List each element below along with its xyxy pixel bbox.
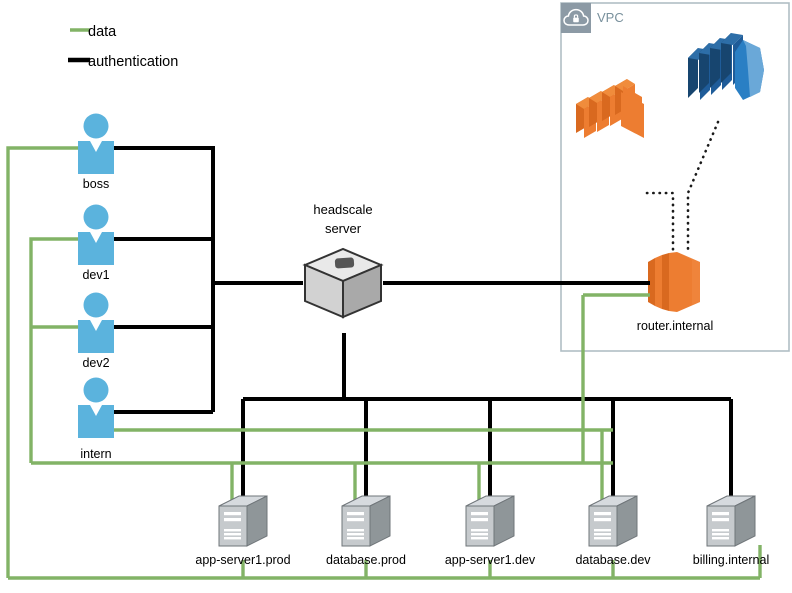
user-label-intern: intern: [80, 447, 111, 461]
network-diagram: VPC router.internal: [0, 0, 792, 593]
data-edge-boss: [8, 148, 78, 578]
user-node-dev2[interactable]: dev2: [78, 293, 114, 371]
data-edge-dev1: [31, 239, 78, 463]
user-node-boss[interactable]: boss: [78, 114, 114, 192]
host-node-database-prod[interactable]: database.prod: [326, 496, 406, 567]
diagram-canvas: VPC router.internal: [0, 0, 792, 593]
aws-router-icon[interactable]: [648, 252, 700, 312]
legend-label-data: data: [88, 24, 117, 40]
host-node-database-dev[interactable]: database.dev: [575, 496, 651, 567]
server-icon: [466, 496, 514, 546]
user-node-dev1[interactable]: dev1: [78, 205, 114, 283]
cube-server-icon: [305, 249, 381, 317]
host-label-database-prod: database.prod: [326, 553, 406, 567]
headscale-label-line2: server: [325, 221, 362, 236]
aws-database-icon[interactable]: [688, 33, 764, 100]
user-icon: [78, 205, 114, 266]
headscale-server-node[interactable]: headscale server: [305, 202, 381, 317]
user-node-intern[interactable]: intern: [78, 378, 114, 462]
host-label-billing-internal: billing.internal: [693, 553, 769, 567]
vpc-internal-links: [647, 122, 718, 253]
auth-edge-boss: [114, 148, 213, 412]
host-label-database-dev: database.dev: [575, 553, 651, 567]
user-label-dev1: dev1: [82, 268, 109, 282]
server-icon: [707, 496, 755, 546]
link-database-to-router: [688, 122, 718, 253]
headscale-label-line1: headscale: [313, 202, 372, 217]
host-node-billing-internal[interactable]: billing.internal: [693, 496, 769, 567]
legend-label-authentication: authentication: [88, 54, 178, 70]
host-label-app-server1-prod: app-server1.prod: [195, 553, 290, 567]
user-icon: [78, 114, 114, 175]
server-icon: [589, 496, 637, 546]
aws-instances-icon[interactable]: [576, 79, 648, 138]
user-icon: [78, 293, 114, 354]
router-label: router.internal: [637, 319, 713, 333]
vpc-label: VPC: [597, 10, 624, 25]
server-icon: [219, 496, 267, 546]
link-compute-to-router: [647, 193, 673, 253]
user-icon: [78, 378, 114, 439]
user-label-boss: boss: [83, 177, 109, 191]
host-node-app-server1-prod[interactable]: app-server1.prod: [195, 496, 290, 567]
server-icon: [342, 496, 390, 546]
host-label-app-server1-dev: app-server1.dev: [445, 553, 536, 567]
host-node-app-server1-dev[interactable]: app-server1.dev: [445, 496, 536, 567]
user-label-dev2: dev2: [82, 356, 109, 370]
legend: data authentication: [68, 24, 178, 70]
